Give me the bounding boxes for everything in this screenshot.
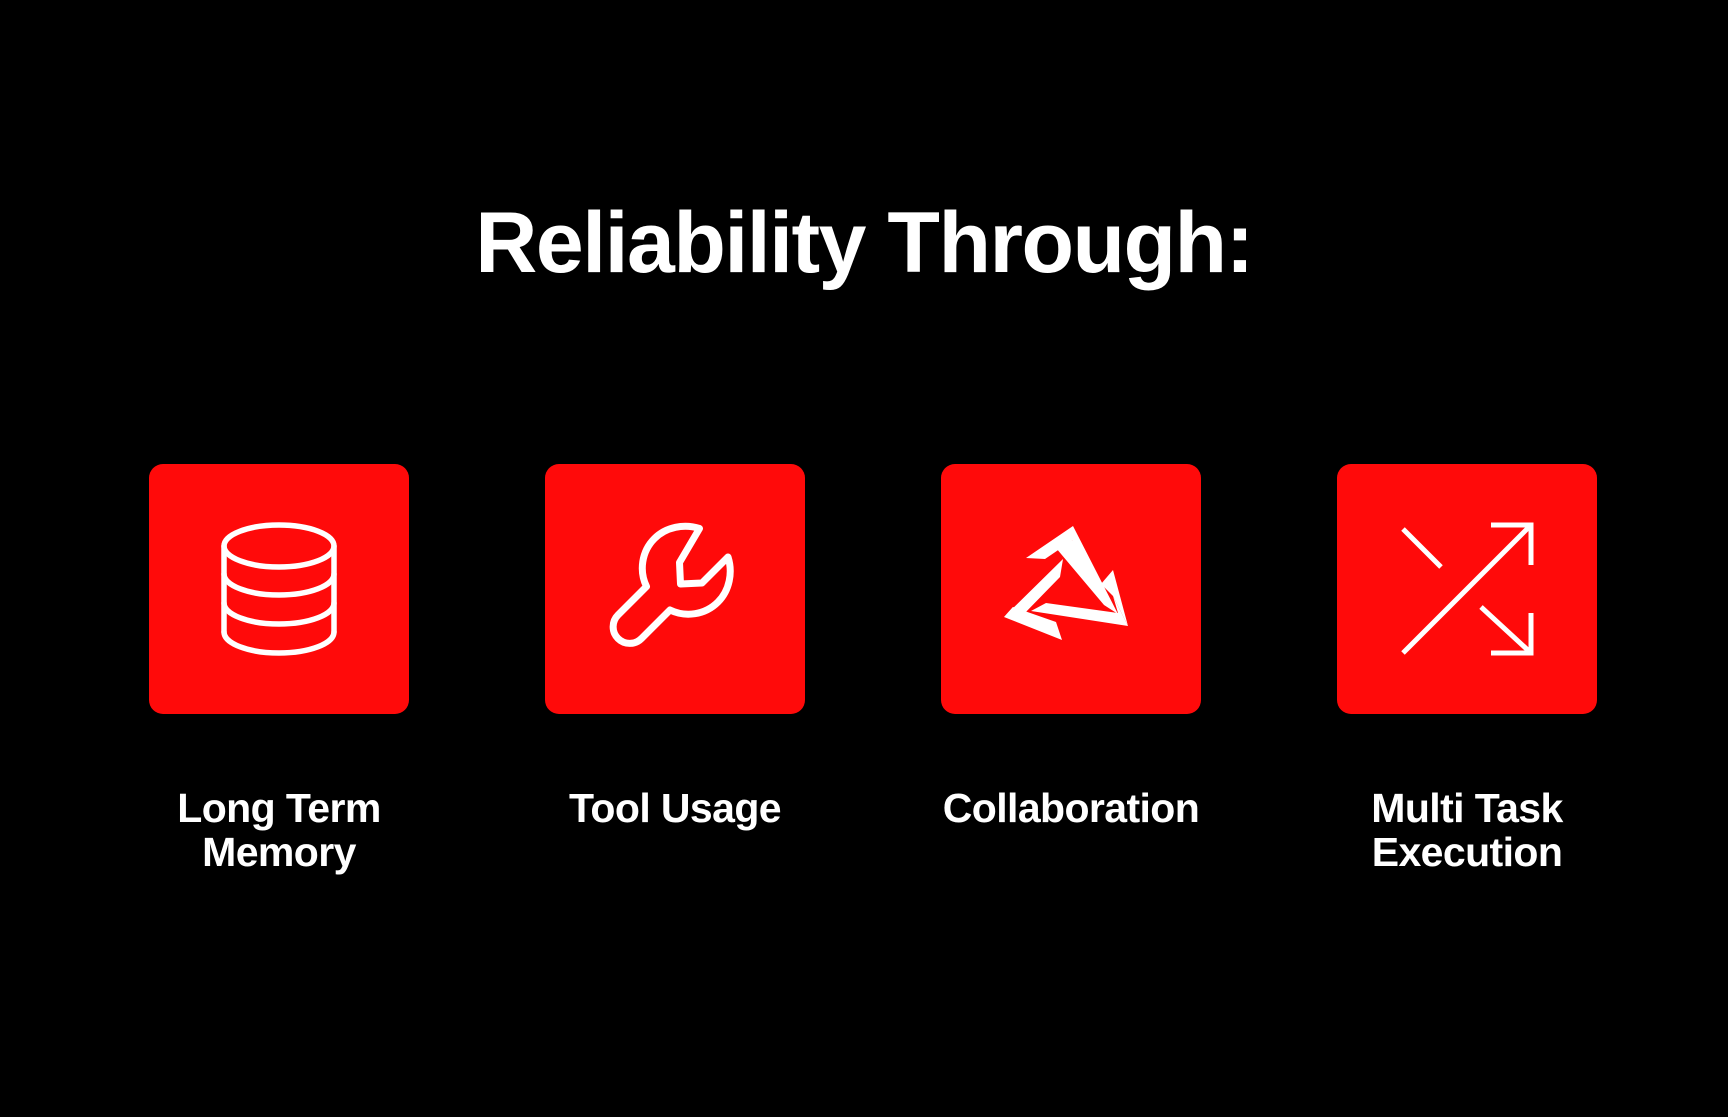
wrench-icon: [604, 518, 746, 660]
icon-tile-tool-usage[interactable]: [545, 464, 805, 714]
slide-root: Reliability Through: Long Term Memory: [0, 0, 1728, 1117]
recycle-arrows-icon: [1000, 522, 1142, 656]
feature-card-tool-usage[interactable]: Tool Usage: [545, 464, 805, 830]
icon-tile-collaboration[interactable]: [941, 464, 1201, 714]
feature-card-multi-task-execution[interactable]: Multi Task Execution: [1337, 464, 1597, 875]
shuffle-arrows-icon: [1397, 519, 1537, 659]
feature-card-row: Long Term Memory Tool Usage: [149, 464, 1579, 875]
feature-card-label: Collaboration: [943, 786, 1199, 830]
page-title: Reliability Through:: [0, 198, 1728, 288]
feature-card-label: Tool Usage: [569, 786, 781, 830]
database-icon: [215, 520, 343, 658]
feature-card-long-term-memory[interactable]: Long Term Memory: [149, 464, 409, 875]
feature-card-label: Long Term Memory: [177, 786, 380, 875]
feature-card-label: Multi Task Execution: [1371, 786, 1562, 875]
icon-tile-long-term-memory[interactable]: [149, 464, 409, 714]
icon-tile-multi-task-execution[interactable]: [1337, 464, 1597, 714]
feature-card-collaboration[interactable]: Collaboration: [941, 464, 1201, 830]
